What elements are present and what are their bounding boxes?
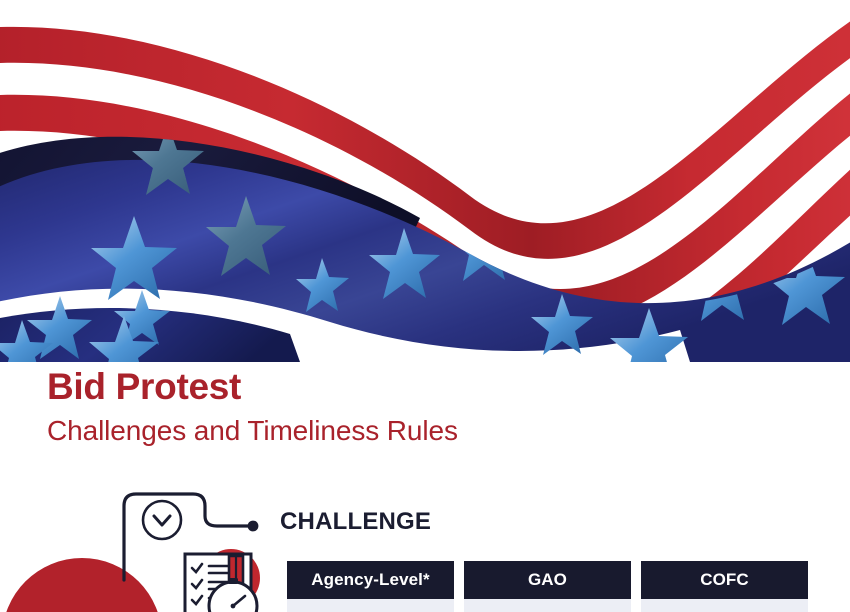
title-block: Bid Protest Challenges and Timeliness Ru… [47, 368, 667, 445]
column-header-cofc[interactable]: COFC [641, 561, 808, 599]
chevron-down-circle-icon [143, 501, 181, 539]
section-label-challenge: CHALLENGE [280, 508, 431, 536]
decorative-graphic [0, 478, 290, 612]
table-column-cofc: COFC [641, 561, 808, 612]
column-body-agency-level [287, 599, 454, 612]
column-body-cofc [641, 599, 808, 612]
column-header-gao[interactable]: GAO [464, 561, 631, 599]
challenge-comparison-table: Agency-Level* GAO COFC [287, 561, 850, 612]
flag-banner-graphic [0, 0, 850, 362]
page-title: Bid Protest [47, 368, 667, 405]
red-circle-shape [2, 558, 162, 612]
table-column-gao: GAO [464, 561, 631, 612]
page-subtitle: Challenges and Timeliness Rules [47, 416, 667, 445]
table-column-agency-level: Agency-Level* [287, 561, 454, 612]
connector-endpoint-dot [248, 521, 259, 532]
column-body-gao [464, 599, 631, 612]
column-header-agency-level[interactable]: Agency-Level* [287, 561, 454, 599]
